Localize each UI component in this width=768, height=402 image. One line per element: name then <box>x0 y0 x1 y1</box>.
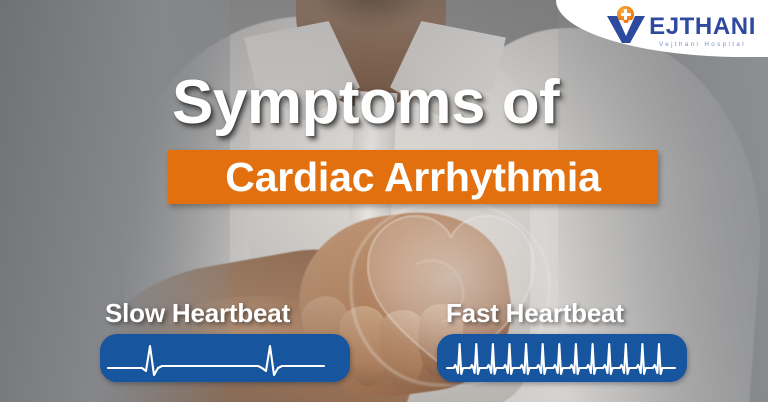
logo-tagline: Vejthani Hospital <box>649 41 756 48</box>
page-subtitle: Cardiac Arrhythmia <box>225 157 600 198</box>
ecg-trace-tachycardia <box>437 334 687 382</box>
fast-heartbeat-label: Fast Heartbeat <box>437 300 687 326</box>
panel-fast-heartbeat: Fast Heartbeat <box>437 300 687 382</box>
logo-wordmark: EJTHANI <box>649 15 756 39</box>
ecg-trace-bradycardia <box>100 334 350 382</box>
logo-mark <box>606 6 646 44</box>
slow-heartbeat-label: Slow Heartbeat <box>100 300 350 326</box>
logo-text: EJTHANI Vejthani Hospital <box>649 6 756 48</box>
vejthani-logo[interactable]: EJTHANI Vejthani Hospital <box>606 6 756 48</box>
slow-heartbeat-ecg-box <box>100 334 350 382</box>
letter-v-icon <box>606 15 646 44</box>
fast-heartbeat-ecg-box <box>437 334 687 382</box>
title-highlight-band: Cardiac Arrhythmia <box>168 150 658 204</box>
panel-slow-heartbeat: Slow Heartbeat <box>100 300 350 382</box>
infographic-poster: EJTHANI Vejthani Hospital Symptoms of Ca… <box>0 0 768 402</box>
page-title: Symptoms of <box>172 72 559 134</box>
